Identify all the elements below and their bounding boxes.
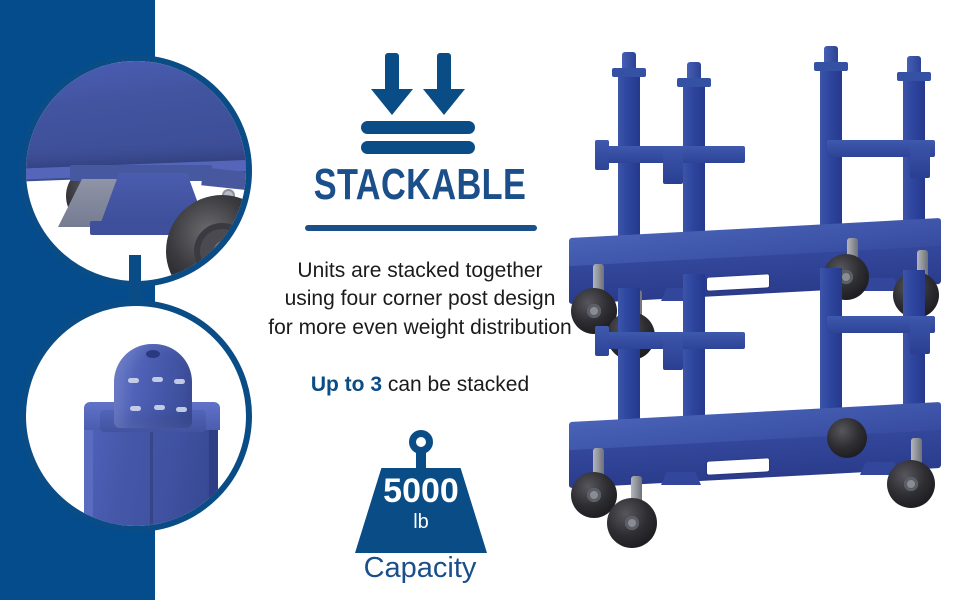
- deck-underside: [20, 55, 252, 177]
- cap-highlight: [154, 405, 165, 410]
- headline-divider: [305, 225, 537, 231]
- post-edge-right: [209, 418, 218, 532]
- cap-highlight: [174, 379, 185, 384]
- cap-highlight: [128, 378, 139, 383]
- caster-hub: [587, 488, 601, 502]
- cart-deck-underside-socket-photo: [26, 61, 246, 281]
- body-line: Units are stacked together: [255, 257, 585, 285]
- brace-bracket: [910, 320, 930, 354]
- capacity-label: Capacity: [335, 554, 505, 583]
- stack-count-statement: Up to 3 can be stacked: [265, 373, 575, 397]
- capacity-value: 5000: [355, 474, 487, 508]
- cap-highlight: [176, 407, 187, 412]
- caster-hub: [904, 477, 918, 491]
- post-flange: [897, 72, 931, 81]
- caster-hub: [625, 516, 639, 530]
- capacity-unit: lb: [355, 512, 487, 532]
- arrow-head: [423, 89, 465, 115]
- weight-icon: 5000 lb Capacity: [335, 430, 505, 595]
- down-arrow-icon: [371, 53, 413, 115]
- brace-end-cap: [595, 326, 609, 356]
- cap-highlight: [130, 406, 141, 411]
- brace-bracket: [910, 144, 930, 178]
- arrow-shaft: [437, 53, 451, 95]
- stack-count-suffix: can be stacked: [382, 373, 529, 396]
- stacking-foot-pad: [661, 472, 701, 485]
- brace-end-cap: [595, 140, 609, 170]
- corner-post-dome-cap-photo: [26, 306, 246, 526]
- stack-layer-bar: [361, 121, 475, 134]
- body-line: for more even weight distribution: [255, 314, 585, 342]
- stack-count-value: Up to 3: [311, 373, 382, 396]
- brace-bracket: [663, 150, 683, 184]
- infographic-canvas: STACKABLE Units are stacked together usi…: [0, 0, 970, 600]
- cap-vent-hole: [146, 350, 160, 358]
- body-line: using four corner post design: [255, 285, 585, 313]
- down-arrow-icon: [423, 53, 465, 115]
- arrow-shaft: [385, 53, 399, 95]
- corner-post: [683, 78, 705, 256]
- cap-highlight: [152, 377, 163, 382]
- post-flange: [814, 62, 848, 71]
- stacked-platform-carts-photo: [555, 40, 970, 565]
- stackable-arrows-icon: [353, 53, 483, 141]
- post-seam: [150, 430, 153, 532]
- post-flange: [612, 68, 646, 77]
- feature-body-copy: Units are stacked together using four co…: [255, 257, 585, 342]
- callout-circle-corner-post: [20, 300, 252, 532]
- post-flange: [677, 78, 711, 87]
- callout-circle-deck-socket: [20, 55, 252, 287]
- post-edge-left: [84, 418, 93, 532]
- feature-text-column: STACKABLE Units are stacked together usi…: [265, 45, 575, 575]
- stack-layer-bar: [361, 141, 475, 154]
- arrow-head: [371, 89, 413, 115]
- brace-bracket: [663, 336, 683, 370]
- caster-wheel: [827, 418, 867, 458]
- feature-headline: STACKABLE: [299, 163, 541, 207]
- lower-cart: [555, 260, 970, 560]
